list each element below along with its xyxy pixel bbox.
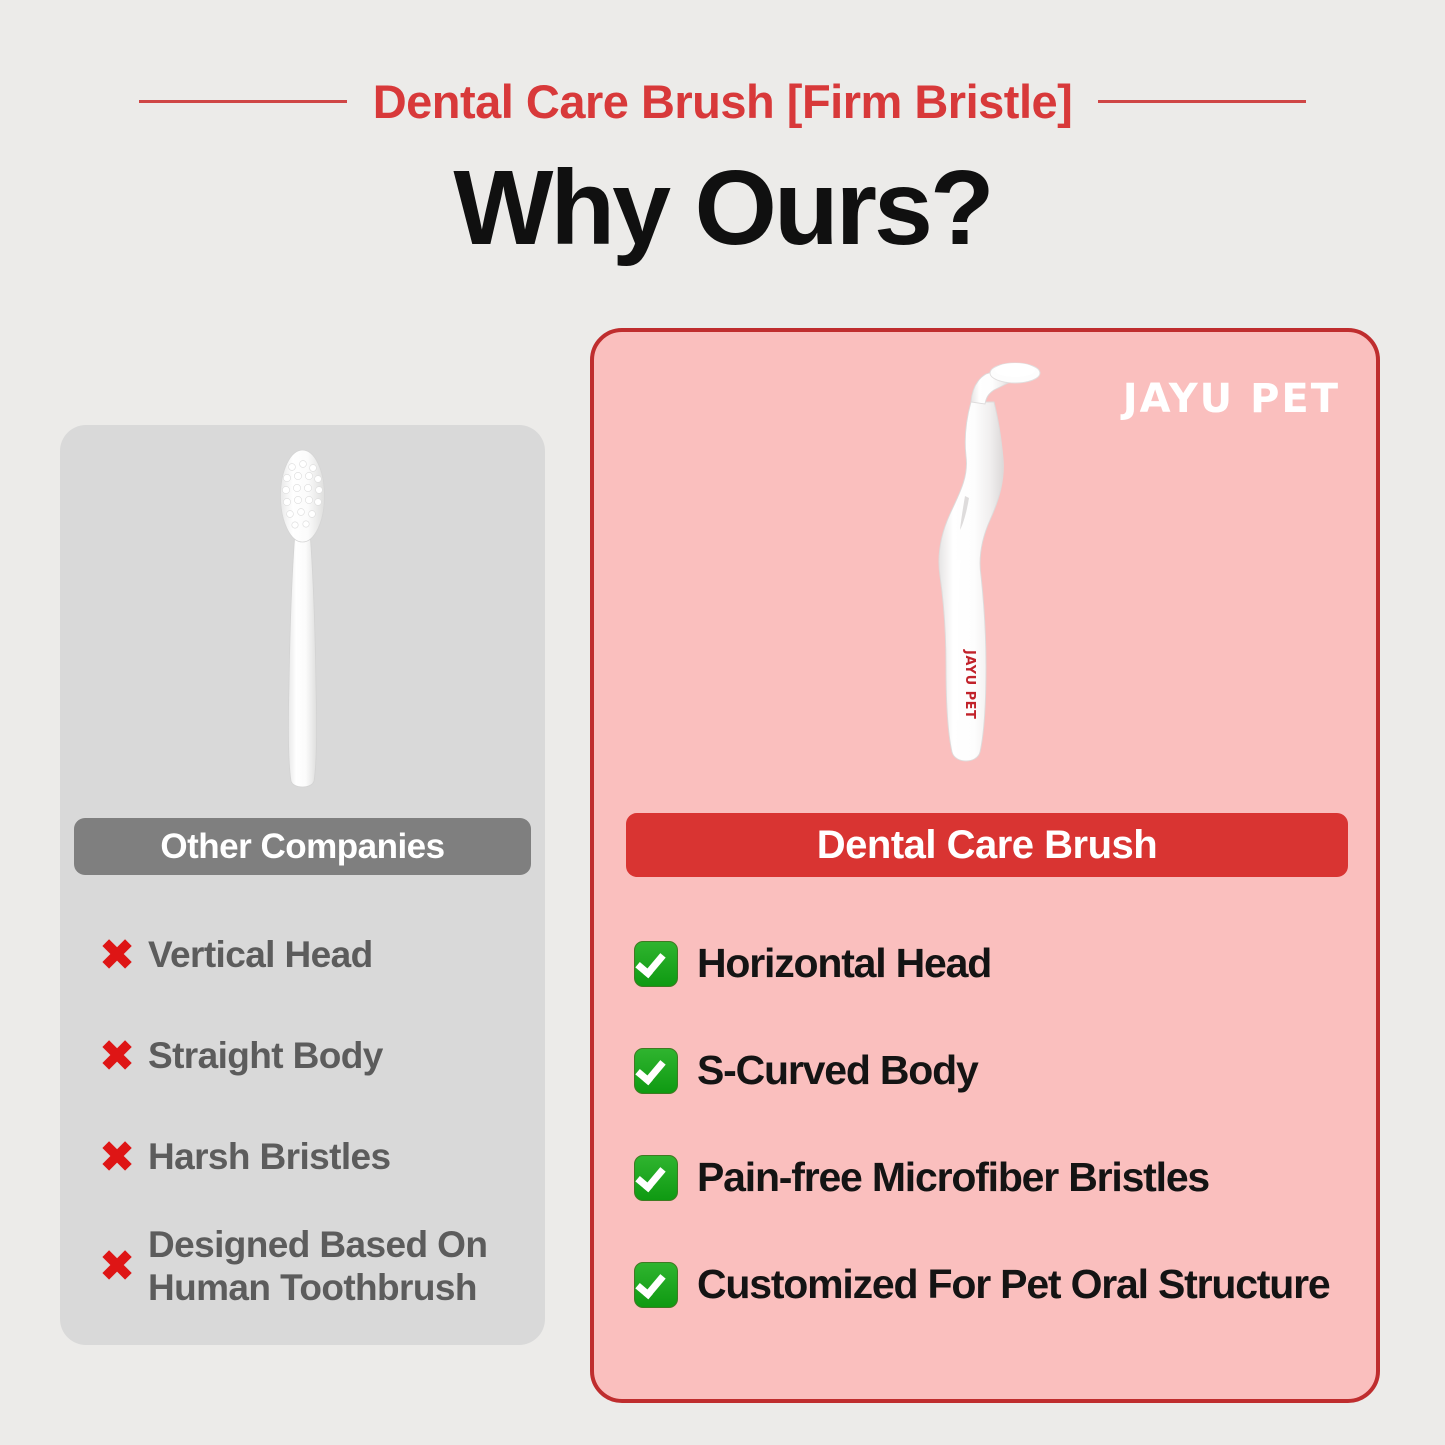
red-x-icon: ✖	[86, 1136, 148, 1180]
list-item: ✖ Straight Body	[86, 1006, 536, 1107]
product-subtitle: Dental Care Brush [Firm Bristle]	[373, 74, 1073, 129]
pet-toothbrush-icon: JAYU PET	[594, 360, 1376, 790]
list-item-label: S-Curved Body	[697, 1047, 978, 1094]
page-title: Why Ours?	[0, 150, 1445, 267]
list-item: Horizontal Head	[630, 910, 1370, 1017]
list-item-label: Customized For Pet Oral Structure	[697, 1261, 1329, 1308]
green-check-icon	[630, 941, 683, 987]
dental-care-brush-header-bar: Dental Care Brush	[626, 813, 1348, 877]
horizontal-rule-icon-right	[1098, 100, 1306, 103]
other-companies-feature-list: ✖ Vertical Head ✖ Straight Body ✖ Harsh …	[86, 905, 536, 1326]
green-check-icon	[630, 1262, 683, 1308]
list-item-label: Harsh Bristles	[148, 1136, 391, 1179]
red-x-icon: ✖	[86, 1035, 148, 1079]
list-item-label: Vertical Head	[148, 934, 373, 977]
other-companies-header-bar: Other Companies	[74, 818, 531, 875]
dental-care-brush-feature-list: Horizontal Head S-Curved Body Pain-free …	[630, 910, 1370, 1338]
list-item-label: Horizontal Head	[697, 940, 991, 987]
page-header: Dental Care Brush [Firm Bristle] Why Our…	[0, 0, 1445, 300]
horizontal-rule-icon-left	[139, 100, 347, 103]
green-check-icon	[630, 1155, 683, 1201]
list-item-label: Pain-free Microfiber Bristles	[697, 1154, 1209, 1201]
green-check-icon	[630, 1048, 683, 1094]
straight-toothbrush-icon	[60, 445, 545, 805]
svg-text:JAYU PET: JAYU PET	[962, 649, 977, 719]
eyebrow-row: Dental Care Brush [Firm Bristle]	[0, 70, 1445, 132]
list-item: Pain-free Microfiber Bristles	[630, 1124, 1370, 1231]
dental-care-brush-panel: JAYU PET	[590, 328, 1380, 1403]
other-companies-panel: Other Companies ✖ Vertical Head ✖ Straig…	[60, 425, 545, 1345]
list-item: S-Curved Body	[630, 1017, 1370, 1124]
list-item-label: Designed Based On Human Toothbrush	[148, 1224, 508, 1309]
red-x-icon: ✖	[86, 1245, 148, 1289]
list-item: ✖ Harsh Bristles	[86, 1107, 536, 1208]
red-x-icon: ✖	[86, 934, 148, 978]
other-companies-header-label: Other Companies	[160, 827, 444, 867]
list-item: Customized For Pet Oral Structure	[630, 1231, 1370, 1338]
list-item: ✖ Vertical Head	[86, 905, 536, 1006]
list-item: ✖ Designed Based On Human Toothbrush	[86, 1208, 536, 1326]
dental-care-brush-header-label: Dental Care Brush	[817, 823, 1157, 868]
list-item-label: Straight Body	[148, 1035, 383, 1078]
